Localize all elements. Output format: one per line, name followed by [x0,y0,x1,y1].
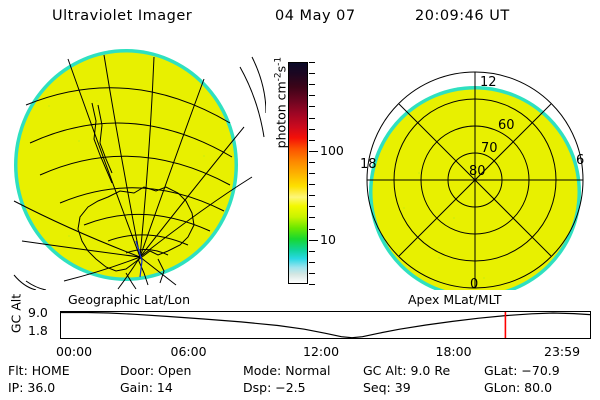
header-bar: Ultraviolet Imager 04 May 07 20:09:46 UT [0,8,600,32]
colorbar-tick [309,262,315,263]
colorbar-tick [309,195,315,196]
strip-x-tick-label: 12:00 [303,344,339,359]
sequence-status: Seq: 39 [363,380,411,395]
colorbar-gradient-box [288,62,308,284]
geographic-polar-plot[interactable] [8,45,266,290]
page-title: Ultraviolet Imager [52,8,192,24]
strip-chart-frame [60,311,591,339]
colorbar-tick [309,251,315,252]
status-footer: Flt: HOME IP: 36.0 Door: Open Gain: 14 M… [0,363,600,399]
aurora-disk [18,53,235,278]
strip-x-tick-label: 18:00 [436,344,472,359]
mode-status: Mode: Normal [243,363,330,378]
observation-time: 20:09:46 UT [415,8,510,24]
strip-x-tick-label: 06:00 [171,344,207,359]
mlt-label-6: 6 [576,153,584,168]
mlt-label-12: 12 [480,75,497,90]
colorbar-tick [309,129,315,130]
colorbar-tick [309,217,315,218]
observation-date: 04 May 07 [275,8,356,24]
mlt-label-18: 18 [360,157,377,172]
colorbar-tick [309,95,315,96]
gain-status: Gain: 14 [120,380,173,395]
colorbar-tick [309,162,315,163]
colorbar-tick [309,284,315,285]
altitude-trace [61,313,590,338]
colorbar-axis-label: photon cm-2s-1 [273,28,288,178]
orbit-strip-chart[interactable]: GC Alt Geographic Lat/Lon Apex MLat/MLT … [0,292,600,360]
colorbar-tick [309,106,315,107]
colorbar-tick [309,206,315,207]
colorbar-tick-major [309,240,318,241]
colorbar-tick [309,273,315,274]
colorbar-tick [309,173,315,174]
apex-polar-plot[interactable]: 12 6 0 18 60 70 80 [358,42,593,290]
gc-altitude-status: GC Alt: 9.0 Re [363,363,450,378]
strip-x-tick-label: 00:00 [56,344,92,359]
ip-status: IP: 36.0 [8,380,55,395]
strip-chart-svg [61,312,590,338]
colorbar-tick [309,184,315,185]
mlat-label-80: 80 [469,164,486,179]
mlt-spokes [367,72,583,288]
mlat-label-60: 60 [498,118,515,133]
colorbar: photon cm-2s-1 10010 [268,55,356,295]
glon-status: GLon: 80.0 [484,380,552,395]
glat-status: GLat: −70.9 [484,363,560,378]
colorbar-tick-major [309,151,318,152]
colorbar-tick [309,118,315,119]
colorbar-tick [309,229,315,230]
colorbar-tick [309,140,315,141]
dsp-status: Dsp: −2.5 [243,380,306,395]
colorbar-tick-label: 100 [320,145,344,158]
mlat-label-70: 70 [481,141,498,156]
colorbar-tick-label: 10 [320,233,336,246]
strip-x-tick-label: 23:59 [544,344,580,359]
apex-plot-svg: 12 6 0 18 60 70 80 [358,42,593,290]
flight-status: Flt: HOME [8,363,70,378]
mlt-label-0: 0 [470,277,478,290]
strip-y-axis-label: GC Alt [9,284,24,344]
colorbar-tick [309,84,315,85]
colorbar-gradient [289,63,307,283]
geographic-plot-svg [8,45,266,290]
colorbar-tick [309,73,315,74]
door-status: Door: Open [120,363,191,378]
colorbar-tick [309,62,315,63]
